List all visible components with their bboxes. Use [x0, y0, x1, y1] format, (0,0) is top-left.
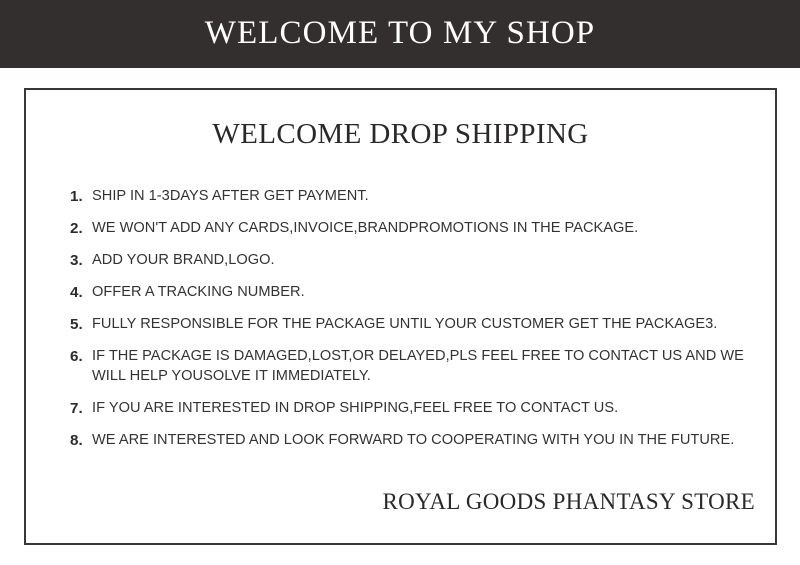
list-item: 7. IF YOU ARE INTERESTED IN DROP SHIPPIN… — [70, 399, 757, 419]
list-item-number: 8. — [70, 431, 83, 451]
list-item: 6. IF THE PACKAGE IS DAMAGED,LOST,OR DEL… — [70, 347, 757, 386]
list-item-text: FULLY RESPONSIBLE FOR THE PACKAGE UNTIL … — [92, 315, 757, 335]
list-item-text: SHIP IN 1-3DAYS AFTER GET PAYMENT. — [92, 187, 757, 207]
list-item: 8. WE ARE INTERESTED AND LOOK FORWARD TO… — [70, 431, 757, 451]
list-item-text: IF YOU ARE INTERESTED IN DROP SHIPPING,F… — [92, 399, 757, 419]
list-item-number: 2. — [70, 219, 83, 239]
list-item-text: WE WON'T ADD ANY CARDS,INVOICE,BRANDPROM… — [92, 219, 757, 239]
list-item-text: IF THE PACKAGE IS DAMAGED,LOST,OR DELAYE… — [92, 347, 757, 386]
list-item-number: 3. — [70, 251, 83, 271]
list-item: 4. OFFER A TRACKING NUMBER. — [70, 283, 757, 303]
list-item: 1. SHIP IN 1-3DAYS AFTER GET PAYMENT. — [70, 187, 757, 207]
banner-title: WELCOME TO MY SHOP — [205, 17, 595, 52]
terms-list: 1. SHIP IN 1-3DAYS AFTER GET PAYMENT. 2.… — [70, 187, 757, 463]
header-banner: WELCOME TO MY SHOP — [0, 0, 800, 68]
policy-card: WELCOME DROP SHIPPING 1. SHIP IN 1-3DAYS… — [24, 88, 777, 545]
store-signature: ROYAL GOODS PHANTASY STORE — [382, 490, 755, 513]
list-item-text: ADD YOUR BRAND,LOGO. — [92, 251, 757, 271]
list-item-number: 6. — [70, 347, 83, 367]
list-item: 5. FULLY RESPONSIBLE FOR THE PACKAGE UNT… — [70, 315, 757, 335]
list-item-number: 4. — [70, 283, 83, 303]
shop-policy-banner: WELCOME TO MY SHOP WELCOME DROP SHIPPING… — [0, 0, 800, 565]
list-item-number: 7. — [70, 399, 83, 419]
list-item-number: 5. — [70, 315, 83, 335]
list-item-number: 1. — [70, 187, 83, 207]
list-item-text: OFFER A TRACKING NUMBER. — [92, 283, 757, 303]
list-item: 3. ADD YOUR BRAND,LOGO. — [70, 251, 757, 271]
list-item-text: WE ARE INTERESTED AND LOOK FORWARD TO CO… — [92, 431, 757, 451]
card-title: WELCOME DROP SHIPPING — [26, 120, 775, 149]
list-item: 2. WE WON'T ADD ANY CARDS,INVOICE,BRANDP… — [70, 219, 757, 239]
